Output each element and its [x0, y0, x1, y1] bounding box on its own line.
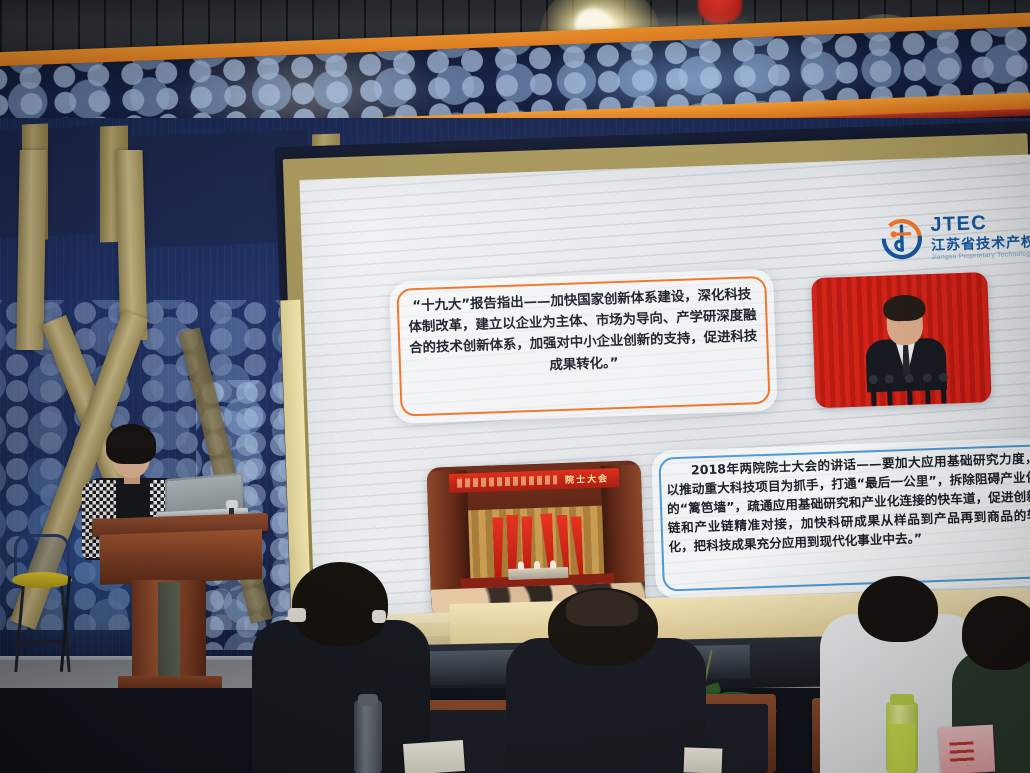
- wall-panel-1: [0, 126, 96, 238]
- portrait-microphone-4: [925, 378, 931, 404]
- jtec-wordmark: JTEC 江苏省技术产权 Jiangsu Proprietary Technol…: [930, 211, 1030, 261]
- attendee-dark-jacket-head: [292, 562, 388, 646]
- portrait-hair: [883, 294, 926, 321]
- quote-text-1: “十九大”报告指出——加快国家创新体系建设，深化科技体制改革，建立以企业为主体、…: [406, 284, 762, 408]
- photo-speaker-portrait[interactable]: [811, 272, 991, 408]
- portrait-microphone-5: [941, 378, 947, 404]
- hall-seat-3: [550, 560, 556, 568]
- paper-sheet-1[interactable]: [403, 740, 465, 773]
- water-bottle-green-cap[interactable]: [890, 694, 914, 705]
- water-bottle-steel-cap[interactable]: [358, 694, 378, 706]
- hall-seat-1: [518, 561, 524, 569]
- paper-sheet-2[interactable]: [684, 747, 723, 773]
- water-bottle-green-liquid: [889, 724, 915, 773]
- podium-column-stripe: [158, 582, 180, 684]
- bar-stool-back[interactable]: [14, 534, 70, 576]
- portrait-microphone-2: [887, 379, 893, 405]
- stage-beam-left-vertical: [16, 150, 46, 350]
- bar-stool-rung: [16, 640, 68, 643]
- jtec-logo: JTEC 江苏省技术产权 Jiangsu Proprietary Technol…: [879, 211, 1030, 263]
- hall-seat-2: [534, 561, 540, 569]
- attendee-green-coat-head: [962, 596, 1030, 670]
- presenter-fringe: [108, 432, 154, 449]
- name-card-text-lines: [949, 741, 974, 766]
- attendee-center-scalp: [566, 590, 638, 626]
- projection-slide[interactable]: JTEC 江苏省技术产权 Jiangsu Proprietary Technol…: [299, 154, 1030, 627]
- podium-front-panel: [100, 529, 262, 585]
- hall-banner-text: 院士大会: [565, 471, 609, 486]
- jtec-name-en: JTEC: [930, 211, 1030, 235]
- portrait-microphone-1: [871, 380, 877, 406]
- portrait-microphone-3: [907, 379, 913, 405]
- quote-callout-blue[interactable]: 2018年两院院士大会的讲话——要加大应用基础研究力度，以推动重大科技项目为抓手…: [651, 437, 1030, 599]
- presenter-group: [70, 424, 260, 624]
- jtec-name-cn: 江苏省技术产权: [931, 234, 1030, 252]
- quote-text-2: 2018年两院院士大会的讲话——要加大应用基础研究力度，以推动重大科技项目为抓手…: [666, 449, 1030, 586]
- water-bottle-steel[interactable]: [354, 700, 382, 773]
- attendee-hair-clip-left: [288, 608, 306, 622]
- stage-beam-right-vertical: [116, 150, 148, 340]
- quote-callout-orange[interactable]: “十九大”报告指出——加快国家创新体系建设，深化科技体制改革，建立以企业为主体、…: [389, 269, 778, 424]
- attendee-hair-clip-right: [372, 610, 386, 623]
- attendee-white-shirt-head: [858, 576, 938, 642]
- scene-root: JTEC 江苏省技术产权 Jiangsu Proprietary Technol…: [0, 0, 1030, 773]
- jtec-emblem-icon: [879, 217, 925, 263]
